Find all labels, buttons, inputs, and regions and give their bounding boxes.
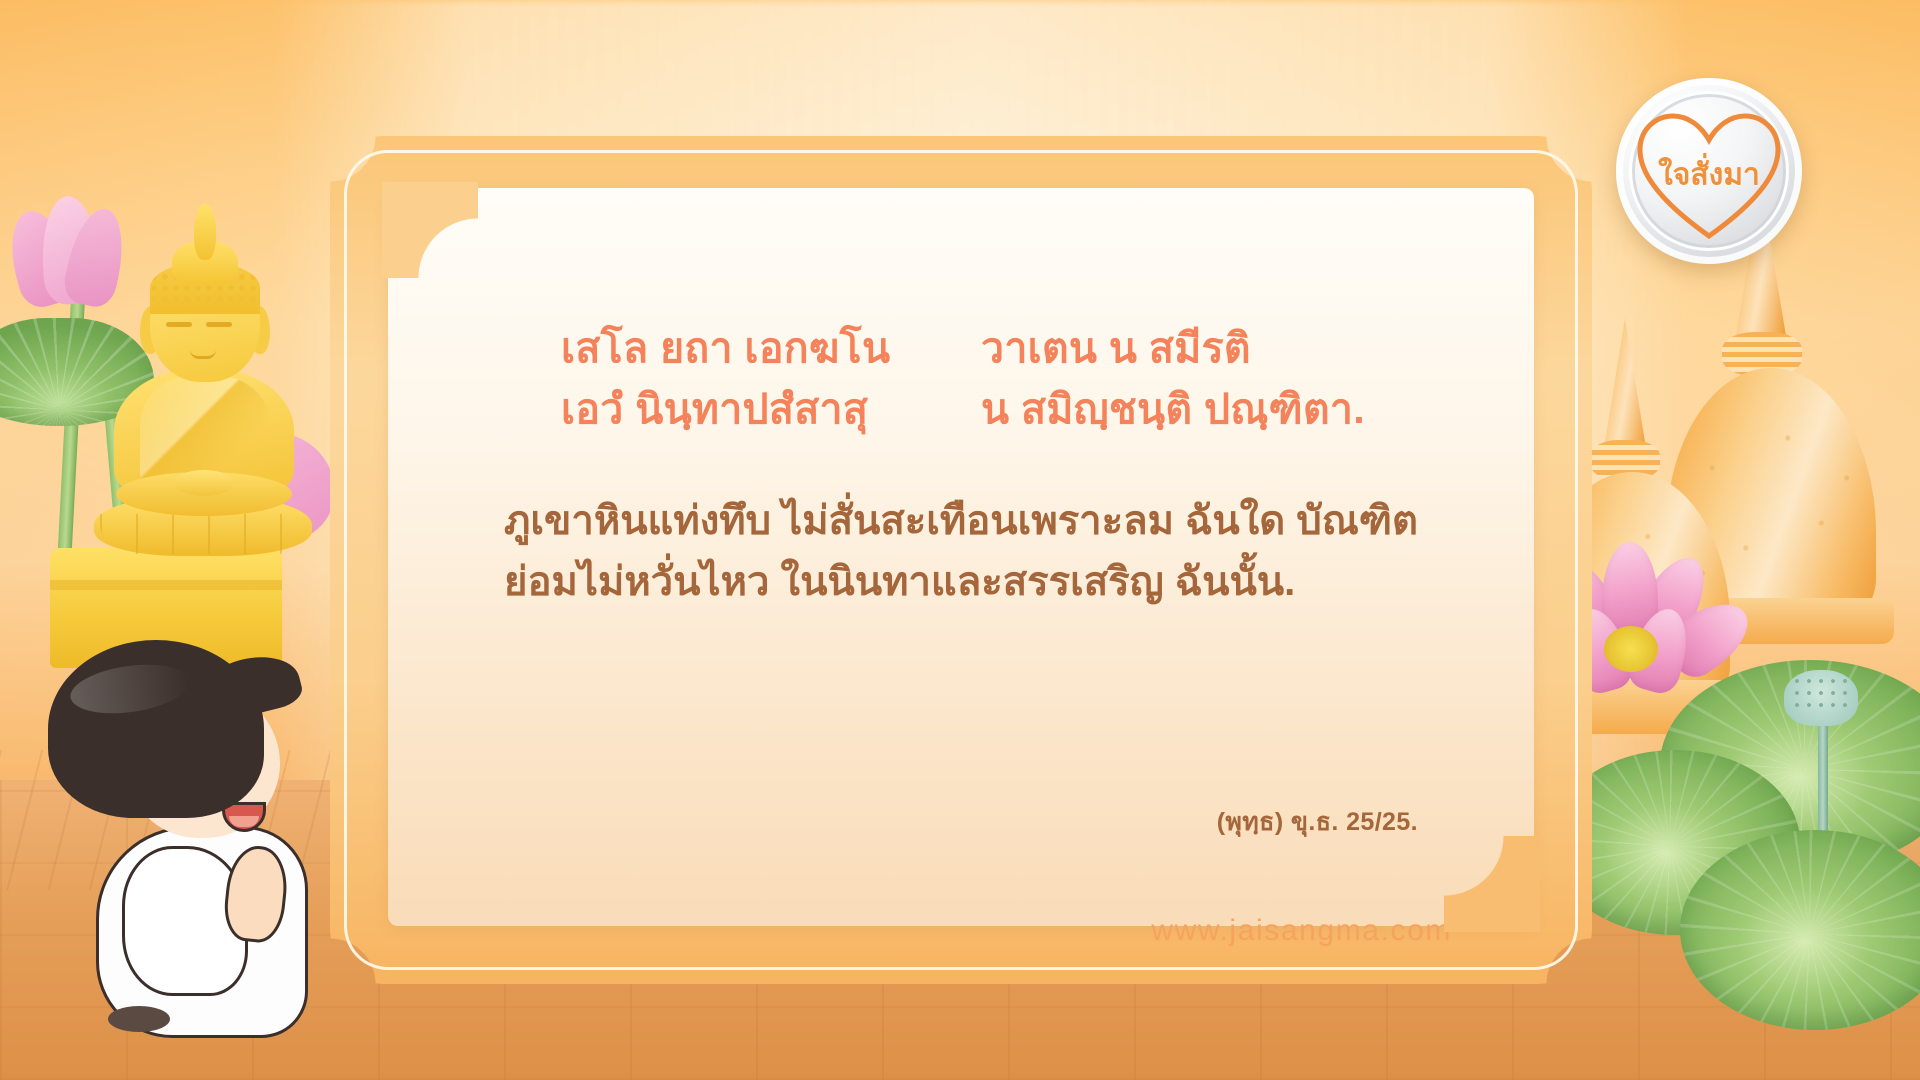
lotus-seedpod-icon: [1784, 670, 1858, 726]
pali-verse-line: เสโล ยถา เอกฆโนวาเตน น สมีรติ: [498, 318, 1444, 379]
buddha-statue-icon: [88, 200, 316, 630]
quote-card: เสโล ยถา เอกฆโนวาเตน น สมีรติ เอวํ นินฺท…: [330, 136, 1592, 984]
pali-line-2-b: น สมิญฺชนฺติ ปณฺฑิตา.: [981, 379, 1381, 440]
poster-canvas: เสโล ยถา เอกฆโนวาเตน น สมีรติ เอวํ นินฺท…: [0, 0, 1920, 1080]
logo-badge[interactable]: ใจสั่งมา: [1616, 78, 1802, 264]
thai-translation: ภูเขาหินแท่งทึบ ไม่สั่นสะเทือนเพราะลม ฉั…: [498, 491, 1444, 613]
card-panel: เสโล ยถา เอกฆโนวาเตน น สมีรติ เอวํ นินฺท…: [388, 188, 1534, 926]
translation-line-1: ภูเขาหินแท่งทึบ ไม่สั่นสะเทือนเพราะลม ฉั…: [504, 491, 1444, 552]
pali-verse-line: เอวํ นินฺทาปสํสาสุน สมิญฺชนฺติ ปณฺฑิตา.: [498, 379, 1444, 440]
pali-line-1-a: เสโล ยถา เอกฆโน: [561, 318, 981, 379]
card-content: เสโล ยถา เอกฆโนวาเตน น สมีรติ เอวํ นินฺท…: [498, 318, 1444, 613]
praying-boy-character: [30, 640, 320, 1060]
website-url[interactable]: www.jaisangma.com: [1151, 914, 1452, 948]
pali-line-2-a: เอวํ นินฺทาปสํสาสุ: [561, 379, 981, 440]
lotus-seedpod-stem: [1818, 720, 1828, 840]
translation-line-2: ย่อมไม่หวั่นไหว ในนินทาและสรรเสริญ ฉันนั…: [504, 552, 1444, 613]
scripture-citation: (พุทฺธ) ขุ.ธ. 25/25.: [1217, 802, 1418, 842]
pali-verse: เสโล ยถา เอกฆโนวาเตน น สมีรติ เอวํ นินฺท…: [498, 318, 1444, 439]
logo-text: ใจสั่งมา: [1616, 151, 1802, 198]
left-scene: [0, 170, 360, 1080]
pali-line-1-b: วาเตน น สมีรติ: [981, 318, 1381, 379]
